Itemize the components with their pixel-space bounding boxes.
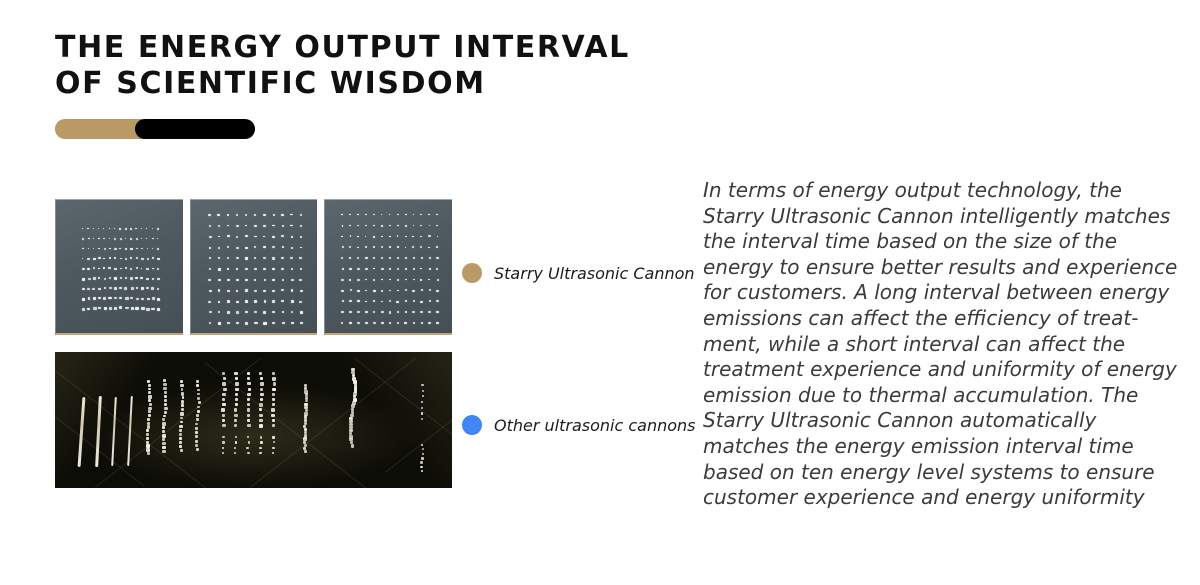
body-line: energy to ensure better results and expe… bbox=[703, 255, 1173, 281]
figure-other-ultrasonic-cannons bbox=[55, 352, 452, 488]
accent-bar bbox=[55, 119, 255, 139]
body-line: treatment experience and uniformity of e… bbox=[703, 357, 1173, 383]
legend-label-starry: Starry Ultrasonic Cannon bbox=[494, 264, 695, 283]
dot-grid-1 bbox=[56, 200, 183, 333]
body-line: ment, while a short interval can affect … bbox=[703, 332, 1173, 358]
dot-icon bbox=[462, 263, 482, 283]
panel-1 bbox=[55, 199, 183, 335]
accent-bar-dark-segment bbox=[135, 119, 255, 139]
body-paragraph: In terms of energy output technology, th… bbox=[703, 178, 1173, 511]
legend-item-starry-ultrasonic-cannon: Starry Ultrasonic Cannon bbox=[462, 263, 695, 283]
figure-starry-ultrasonic-cannon bbox=[55, 199, 452, 335]
body-line: customer experience and energy uniformit… bbox=[703, 485, 1173, 511]
body-line: In terms of energy output technology, th… bbox=[703, 178, 1173, 204]
body-line: for customers. A long interval between e… bbox=[703, 280, 1173, 306]
body-line: the interval time based on the size of t… bbox=[703, 229, 1173, 255]
body-line: matches the energy emission interval tim… bbox=[703, 434, 1173, 460]
dot-grid-2 bbox=[191, 200, 318, 333]
body-line: emissions can affect the efficiency of t… bbox=[703, 306, 1173, 332]
body-line: Starry Ultrasonic Cannon intelligently m… bbox=[703, 204, 1173, 230]
body-line: emission due to thermal accumulation. Th… bbox=[703, 383, 1173, 409]
legend-label-other: Other ultrasonic cannons bbox=[494, 416, 696, 435]
body-line: Starry Ultrasonic Cannon automatically bbox=[703, 408, 1173, 434]
legend-item-other-ultrasonic-cannons: Other ultrasonic cannons bbox=[462, 415, 696, 435]
page-title-line-1: THE ENERGY OUTPUT INTERVAL bbox=[55, 30, 675, 66]
dot-grid-3 bbox=[325, 200, 452, 333]
page-title-line-2: OF SCIENTIFIC WISDOM bbox=[55, 66, 675, 102]
body-line: based on ten energy level systems to ens… bbox=[703, 460, 1173, 486]
dot-icon bbox=[462, 415, 482, 435]
panel-2 bbox=[190, 199, 318, 335]
panel-3 bbox=[324, 199, 452, 335]
page-title: THE ENERGY OUTPUT INTERVAL OF SCIENTIFIC… bbox=[55, 30, 675, 102]
